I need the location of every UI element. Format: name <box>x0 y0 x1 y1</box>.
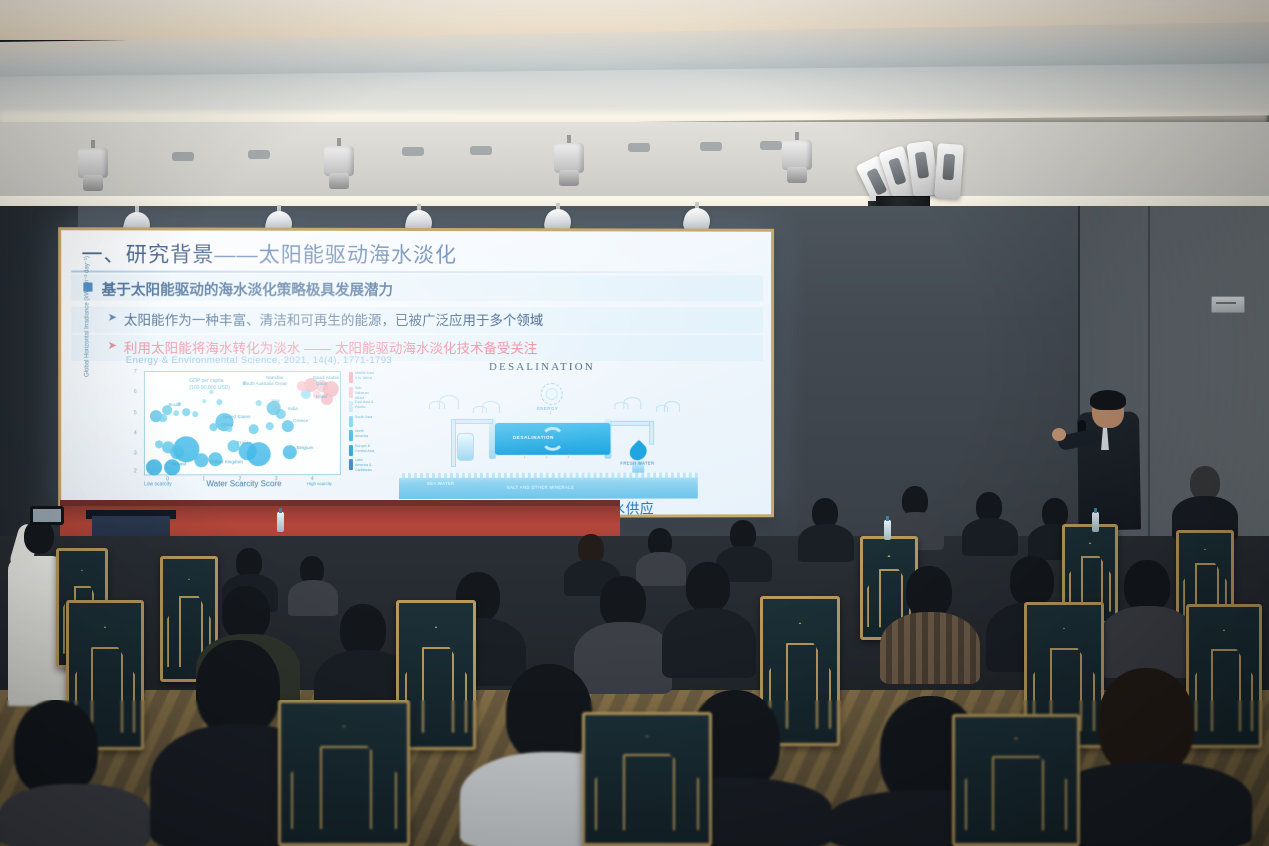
intake-pipe-vert <box>451 419 456 467</box>
projection-screen: 一、研究背景——太阳能驱动海水淡化 基于太阳能驱动的海水淡化策略极具发展潜力 ➤… <box>58 227 774 519</box>
recessed-light <box>402 147 424 156</box>
audience-shoulders-plaid <box>880 612 980 684</box>
audience-shoulders <box>636 552 686 586</box>
chart-point-label: France <box>237 441 251 446</box>
slide-title-part1: 一、研究背景 <box>81 243 214 266</box>
legend-swatch <box>349 459 353 470</box>
audience-shoulders <box>662 608 756 678</box>
chart-point-label: Iraq <box>271 398 279 403</box>
chart-y-tick: 5 <box>134 410 137 416</box>
ceiling-lower-band <box>0 122 1269 206</box>
chart-legend-item: Middle East & N. Africa <box>349 371 375 384</box>
chart-legend-item: Europe & Central Asia <box>349 444 375 457</box>
legend-label: South Asia <box>355 415 375 420</box>
chart-point-label: Saudi Arabia <box>313 375 339 380</box>
fresh-water-label: FRESH WATER <box>620 461 654 466</box>
track-light <box>322 146 356 192</box>
recessed-light <box>172 152 194 161</box>
audience-head <box>1098 668 1194 776</box>
chart-legend-item: South Asia <box>349 415 375 428</box>
recessed-light <box>700 142 722 151</box>
chart-legend-item: Sub-Saharan Africa <box>349 386 375 399</box>
water-bottle <box>884 520 891 540</box>
arrow-bullet-icon: ➤ <box>108 311 117 324</box>
pretreatment-tank <box>457 433 474 461</box>
legend-label: Europe & Central Asia <box>355 444 375 454</box>
chart-point-label: China <box>221 422 233 427</box>
slide-title: 一、研究背景——太阳能驱动海水淡化 <box>81 238 457 269</box>
chart-y-tick: 2 <box>134 468 137 474</box>
legend-swatch <box>349 445 353 456</box>
legend-label: North America <box>355 429 375 439</box>
legend-swatch <box>349 372 353 383</box>
audience-head <box>1190 466 1220 500</box>
audience-head <box>340 604 386 656</box>
chart-bubble <box>194 453 208 467</box>
chart-point-label: Qatar <box>316 381 328 386</box>
desalination-title: DESALINATION <box>489 361 595 373</box>
chart-legend-item: East Asia & Pacific <box>349 400 375 413</box>
audience-shoulders <box>798 524 854 562</box>
chart-bubble <box>210 423 218 431</box>
track-light <box>76 148 110 194</box>
legend-swatch <box>349 387 353 398</box>
chart-point-label: United Kingdom <box>210 459 243 464</box>
energy-arrow-icon: ↓ <box>549 409 552 416</box>
chart-bubble <box>173 410 179 416</box>
recessed-light <box>760 141 782 150</box>
audience-shoulders <box>288 580 338 616</box>
title-divider <box>71 270 761 273</box>
recessed-light <box>628 143 650 152</box>
chart-point-label: United States <box>223 414 251 419</box>
banquet-chair <box>582 712 712 846</box>
energy-label: ENERGY <box>537 406 558 411</box>
chart-x-tick: 2 <box>239 476 242 482</box>
chart-bubble <box>193 411 199 417</box>
chart-bubble <box>266 422 274 430</box>
audience-head <box>600 576 646 628</box>
chart-y-axis-label: Global Horizontal Irradiance (kWh m⁻² da… <box>83 285 90 377</box>
chart-legend-item: North America <box>349 429 375 442</box>
unit-label: DESALINATION <box>513 435 554 440</box>
chart-bubble <box>248 424 258 434</box>
water-bottle <box>277 512 284 532</box>
audience-head <box>222 586 270 640</box>
sea-water-label: SEA WATER <box>427 481 455 486</box>
banquet-chair <box>278 700 410 846</box>
outlet-pipe-vert <box>649 421 654 445</box>
slide-level1-bullet: 基于太阳能驱动的海水淡化策略极具发展潜力 <box>102 279 393 300</box>
presenter-hand-with-clicker <box>1052 428 1066 441</box>
chart-point-label: India <box>288 406 298 411</box>
water-surface-waves <box>399 473 698 478</box>
audience-head <box>686 562 730 612</box>
chart-bubble <box>203 399 207 403</box>
chart-legend-item: Latin America & Caribbean <box>349 458 375 471</box>
chart-x-axis-label: Water Scarcity Score <box>206 479 281 488</box>
slide-title-part2: 太阳能驱动海水淡化 <box>259 244 457 267</box>
legend-label: Middle East & N. Africa <box>355 371 375 381</box>
chart-bubble <box>216 399 222 405</box>
wall-seam <box>1148 206 1150 536</box>
audience-head <box>1010 556 1054 606</box>
chart-point-label: Israel <box>316 394 327 399</box>
sun-core <box>546 388 558 400</box>
chart-point-label: Brazil <box>168 402 180 407</box>
audience-shoulders <box>0 784 150 846</box>
chart-point-label: Oman <box>275 381 288 386</box>
brine-arrow-icon: ↓ <box>567 453 570 460</box>
audience-head <box>14 700 98 796</box>
chart-y-tick: 6 <box>134 389 137 395</box>
audience-shoulders <box>574 622 672 694</box>
chart-y-tick: 3 <box>134 450 137 456</box>
chart-bubble <box>266 401 280 415</box>
slide-title-dash: —— <box>214 244 258 267</box>
banquet-chair <box>1186 604 1262 748</box>
conference-hall-photo: 一、研究背景——太阳能驱动海水淡化 基于太阳能驱动的海水淡化策略极具发展潜力 ➤… <box>0 0 1269 846</box>
slide-level2-item-1: 太阳能作为一种丰富、清洁和可再生的能源，已被广泛应用于多个领域 <box>124 309 543 329</box>
slide-surface: 一、研究背景——太阳能驱动海水淡化 基于太阳能驱动的海水淡化策略极具发展潜力 ➤… <box>61 230 771 516</box>
arrow-bullet-icon: ➤ <box>108 339 117 352</box>
stage-light <box>934 143 964 199</box>
chart-y-tick: 4 <box>134 430 137 436</box>
outlet-pipe <box>610 421 654 426</box>
brine-arrow-icon: ↓ <box>545 453 548 460</box>
legend-label: East Asia & Pacific <box>355 400 375 410</box>
desalination-diagram: DESALINATION ENERGY ↓ <box>399 361 698 501</box>
desalination-unit: DESALINATION <box>495 423 611 455</box>
chart-bubble <box>256 400 262 406</box>
scatter-chart: Global Horizontal Irradiance (kWh m⁻² da… <box>110 367 373 496</box>
chart-point-label: Namibia <box>266 375 283 380</box>
chart-high-scarcity-note: High scarcity <box>307 481 332 486</box>
track-light <box>552 143 586 189</box>
recessed-light <box>470 146 492 155</box>
presenter-hair <box>1090 390 1126 410</box>
audience-head <box>506 664 592 762</box>
chart-legend: Middle East & N. AfricaSub-Saharan Afric… <box>349 371 375 477</box>
legend-label: Latin America & Caribbean <box>355 458 375 473</box>
chart-bubble <box>282 420 294 432</box>
salt-minerals-label: SALT AND OTHER MINERALS <box>507 485 574 490</box>
chart-y-tick: 7 <box>134 369 137 375</box>
audience-shoulders <box>962 518 1018 556</box>
intake-pipe <box>451 419 493 424</box>
room-sign-plate <box>1211 296 1245 313</box>
chart-point-label: Ireland <box>172 461 186 466</box>
audience-head <box>1124 560 1170 612</box>
chart-bubble <box>183 408 191 416</box>
chart-point-label: Belgium <box>297 445 314 450</box>
legend-label: Sub-Saharan Africa <box>355 386 375 401</box>
chart-point-label: South Australia <box>243 381 274 386</box>
chart-point-label: Greece <box>293 418 308 423</box>
chart-x-tick: 1 <box>202 476 205 482</box>
chart-bubble <box>282 445 296 459</box>
chart-bubble <box>146 459 162 475</box>
audience-photographer-head <box>24 520 54 554</box>
chart-bubble <box>210 390 214 394</box>
chart-low-scarcity-note: Low scarcity <box>144 481 172 487</box>
legend-swatch <box>349 430 353 441</box>
chart-bubble <box>159 414 167 422</box>
water-bottle <box>1092 512 1099 532</box>
smartphone-screen <box>33 509 61 522</box>
track-light <box>780 140 814 186</box>
audience-head <box>906 566 952 618</box>
legend-swatch <box>349 401 353 412</box>
chart-x-tick: 3 <box>275 476 278 482</box>
chart-size-note: GDP per capita <box>189 378 223 384</box>
recessed-light <box>248 150 270 159</box>
audience-head <box>196 640 280 736</box>
citation-text: Energy & Environmental Science, 2021, 14… <box>126 355 392 366</box>
banquet-chair <box>952 714 1080 846</box>
chart-plot-area: GDP per capita (100-90,000 USD) BrazilUn… <box>144 371 341 475</box>
legend-swatch <box>349 416 353 427</box>
brine-arrow-icon: ↓ <box>523 453 526 460</box>
